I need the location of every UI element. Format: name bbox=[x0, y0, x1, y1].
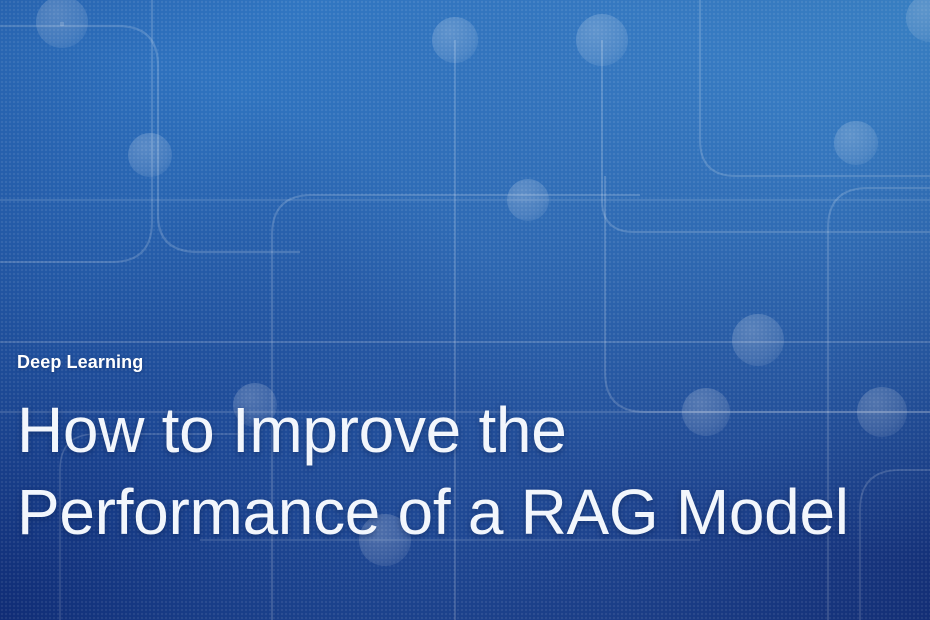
circuit-node bbox=[432, 17, 478, 63]
circuit-node bbox=[36, 0, 88, 48]
page-title-line-2: Performance of a RAG Model bbox=[17, 472, 917, 554]
title-block: Deep Learning How to Improve the Perform… bbox=[17, 352, 917, 596]
slide-canvas: Deep Learning How to Improve the Perform… bbox=[0, 0, 930, 620]
page-title: How to Improve the Performance of a RAG … bbox=[17, 390, 917, 554]
circuit-node bbox=[576, 14, 628, 66]
category-eyebrow: Deep Learning bbox=[17, 352, 917, 374]
page-title-line-1: How to Improve the bbox=[17, 390, 917, 472]
circuit-node bbox=[507, 179, 549, 221]
circuit-node bbox=[128, 133, 172, 177]
circuit-node bbox=[834, 121, 878, 165]
circuit-node bbox=[906, 0, 930, 42]
